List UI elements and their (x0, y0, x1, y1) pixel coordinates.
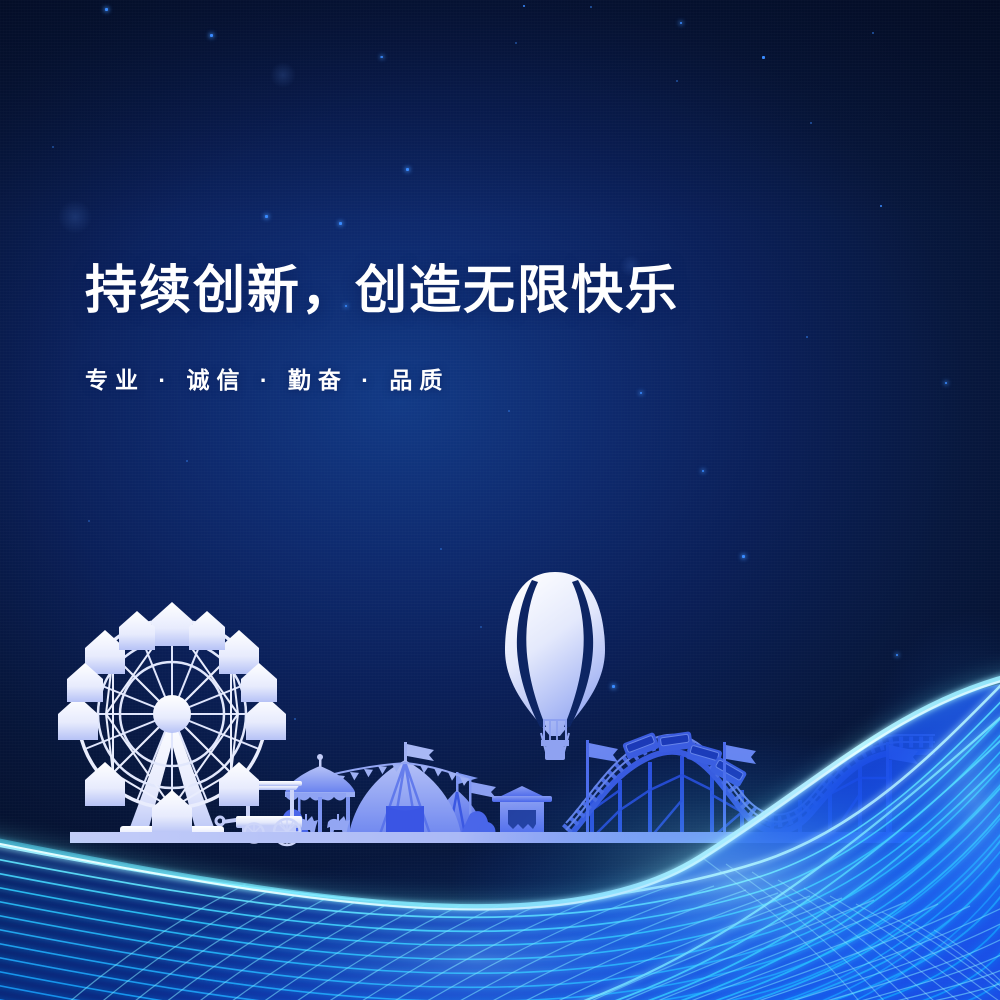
page-subtitle: 专业 · 诚信 · 勤奋 · 品质 (85, 322, 679, 395)
hero-banner: 持续创新，创造无限快乐 专业 · 诚信 · 勤奋 · 品质 (0, 0, 1000, 1000)
hero-copy: 持续创新，创造无限快乐 专业 · 诚信 · 勤奋 · 品质 (85, 262, 679, 395)
page-title: 持续创新，创造无限快乐 (85, 262, 679, 322)
glowing-wave-mesh (0, 0, 1000, 1000)
